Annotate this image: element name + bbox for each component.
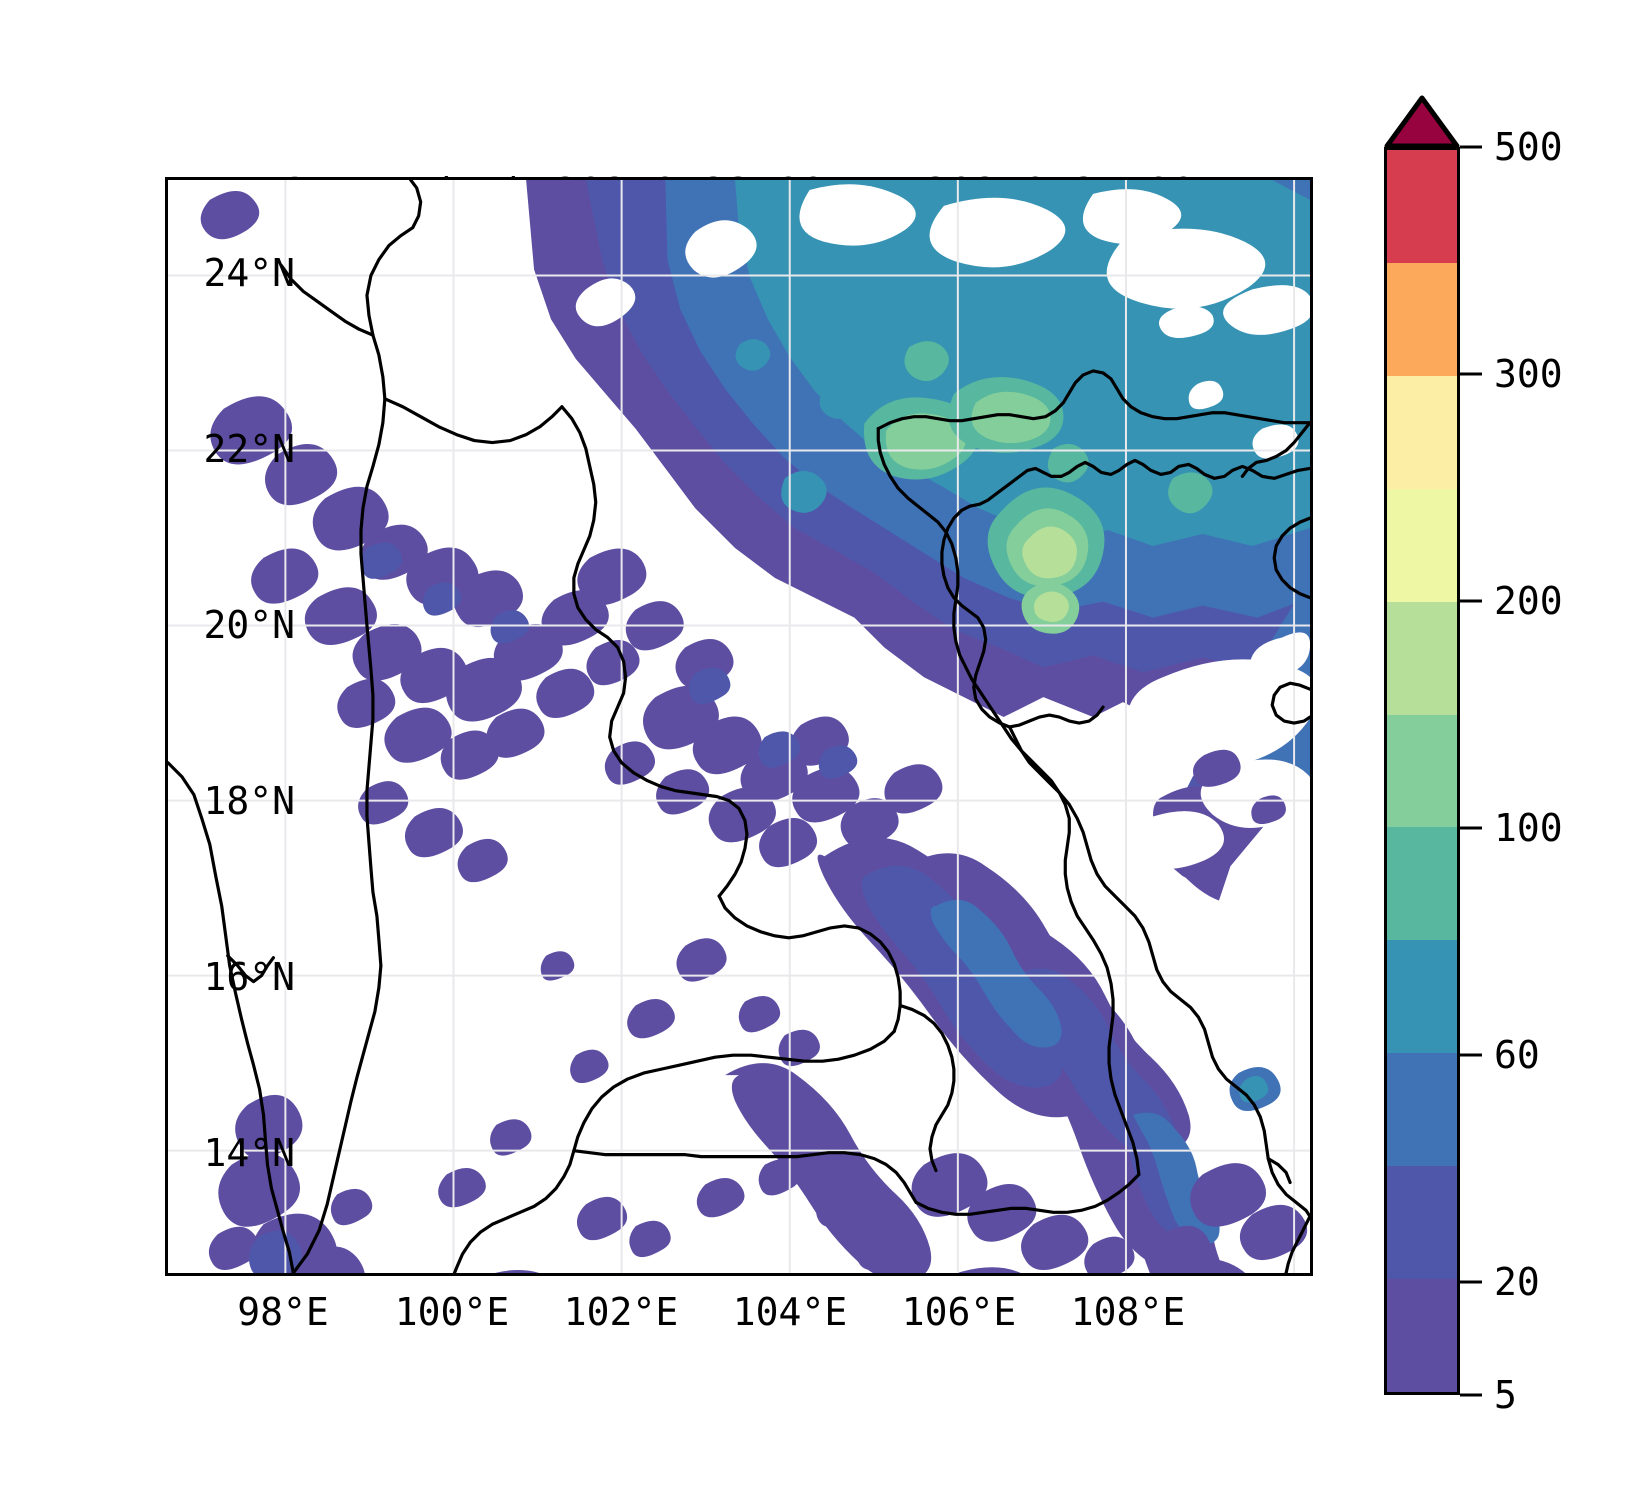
colorbar-tick-20 (1460, 1281, 1482, 1284)
colorbar-gradient (1384, 147, 1460, 1395)
colorbar-segment-5-20 (1387, 1279, 1457, 1392)
xtick-label-98e: 98°E (237, 1290, 329, 1334)
colorbar-extend-arrow (1384, 95, 1460, 147)
colorbar-tick-5 (1460, 1394, 1482, 1397)
colorbar-tick-60 (1460, 1054, 1482, 1057)
ytick-label-20n: 20°N (203, 603, 295, 647)
xtick-label-100e: 100°E (395, 1290, 509, 1334)
colorbar-segment-200-250 (1387, 489, 1457, 602)
colorbar-ticklabel-5: 5 (1494, 1373, 1517, 1417)
colorbar-ticklabel-200: 200 (1494, 579, 1563, 623)
colorbar-segment-400-500 (1387, 150, 1457, 263)
xtick-label-106e: 106°E (902, 1290, 1016, 1334)
colorbar-segment-250-300 (1387, 376, 1457, 489)
ytick-label-14n: 14°N (203, 1131, 295, 1175)
colorbar-segment-20-40 (1387, 1166, 1457, 1279)
xtick-label-102e: 102°E (564, 1290, 678, 1334)
colorbar-ticklabel-100: 100 (1494, 806, 1563, 850)
colorbar-ticklabel-500: 500 (1494, 125, 1563, 169)
ytick-label-18n: 18°N (203, 779, 295, 823)
colorbar-ticklabel-60: 60 (1494, 1033, 1540, 1077)
colorbar-segment-60-80 (1387, 940, 1457, 1053)
ytick-label-16n: 16°N (203, 955, 295, 999)
colorbar-segment-150-200 (1387, 602, 1457, 715)
colorbar-segment-40-60 (1387, 1053, 1457, 1166)
colorbar: 500 300 200 100 60 20 5 (1384, 95, 1460, 1395)
colorbar-ticklabel-20: 20 (1494, 1260, 1540, 1304)
ytick-label-24n: 24°N (203, 251, 295, 295)
colorbar-tick-500 (1460, 146, 1482, 149)
figure-canvas: Acc.RF(mm) 20250423_00 to 20250424_00 Si… (0, 0, 1650, 1500)
colorbar-segment-100-150 (1387, 715, 1457, 828)
colorbar-tick-200 (1460, 600, 1482, 603)
xtick-label-108e: 108°E (1071, 1290, 1185, 1334)
rainfall-contour-map (168, 180, 1310, 1273)
colorbar-ticklabel-300: 300 (1494, 352, 1563, 396)
colorbar-segment-80-100 (1387, 827, 1457, 940)
colorbar-tick-100 (1460, 827, 1482, 830)
xtick-label-104e: 104°E (733, 1290, 847, 1334)
ytick-label-22n: 22°N (203, 427, 295, 471)
colorbar-tick-300 (1460, 373, 1482, 376)
colorbar-segment-300-400 (1387, 263, 1457, 376)
map-axes (165, 177, 1313, 1276)
